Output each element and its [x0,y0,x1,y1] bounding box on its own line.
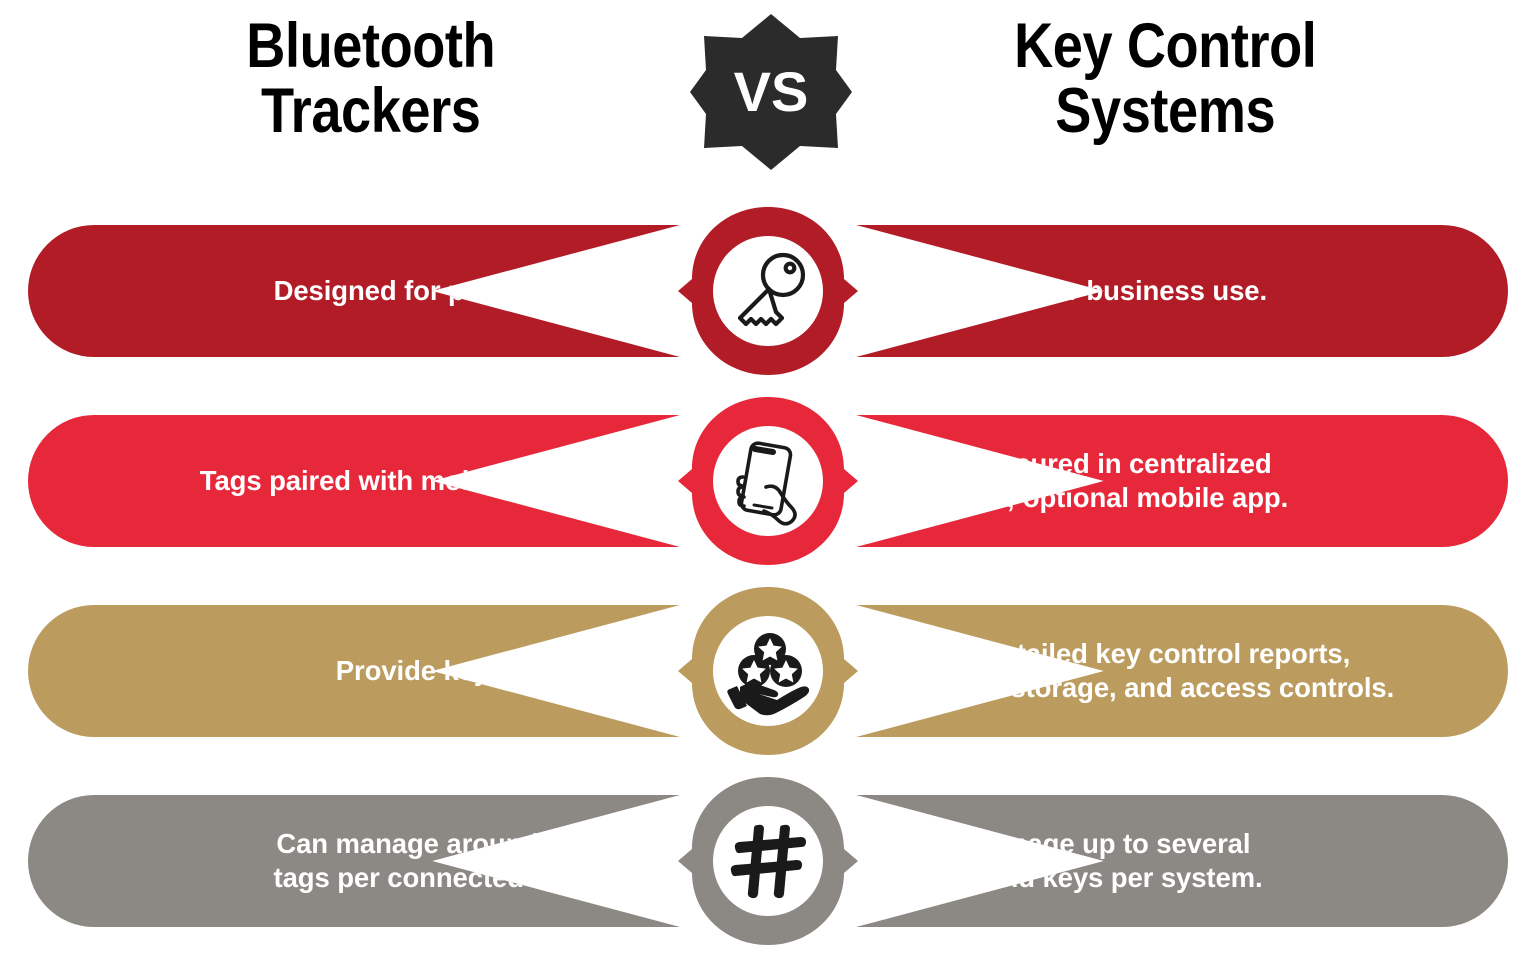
comparison-row: Tags paired with mobile devices. Keys se… [0,395,1536,583]
hand-holding-star-coins-icon [678,585,858,757]
row-left-text: Provide key locations. [336,654,624,688]
row-right-bar: Keys secured in centralized system; opti… [856,415,1508,547]
comparison-row: Provide key locations. Offer detailed ke… [0,585,1536,773]
row-emblem [678,395,858,567]
hashtag-icon [678,775,858,947]
comparison-row: Designed for personal use. Designed for … [0,205,1536,393]
comparison-rows: Designed for personal use. Designed for … [0,205,1536,958]
row-right-bar: Can manage up to several thousand keys p… [856,795,1508,927]
row-left-bar: Designed for personal use. [28,225,680,357]
hand-holding-phone-icon [678,395,858,567]
right-column-title: Key Control Systems [890,14,1440,144]
row-left-text: Designed for personal use. [274,274,624,308]
row-right-text: Designed for business use. [912,274,1267,308]
row-left-text: Can manage around seven tags per connect… [274,827,624,895]
row-left-text: Tags paired with mobile devices. [200,464,624,498]
vs-label: VS [688,12,854,172]
row-right-text: Keys secured in centralized system; opti… [912,447,1288,515]
row-right-text: Can manage up to several thousand keys p… [912,827,1263,895]
row-right-text: Offer detailed key control reports, buil… [912,637,1394,705]
row-right-bar: Offer detailed key control reports, buil… [856,605,1508,737]
comparison-row: Can manage around seven tags per connect… [0,775,1536,963]
row-left-bar: Provide key locations. [28,605,680,737]
row-right-bar: Designed for business use. [856,225,1508,357]
comparison-infographic: Bluetooth Trackers VS Key Control System… [0,0,1536,958]
row-emblem [678,585,858,757]
infographic-header: Bluetooth Trackers VS Key Control System… [0,0,1536,205]
row-emblem [678,205,858,377]
key-icon [678,205,858,377]
vs-badge: VS [688,12,854,172]
row-emblem [678,775,858,947]
row-left-bar: Tags paired with mobile devices. [28,415,680,547]
left-column-title: Bluetooth Trackers [96,14,646,144]
row-left-bar: Can manage around seven tags per connect… [28,795,680,927]
